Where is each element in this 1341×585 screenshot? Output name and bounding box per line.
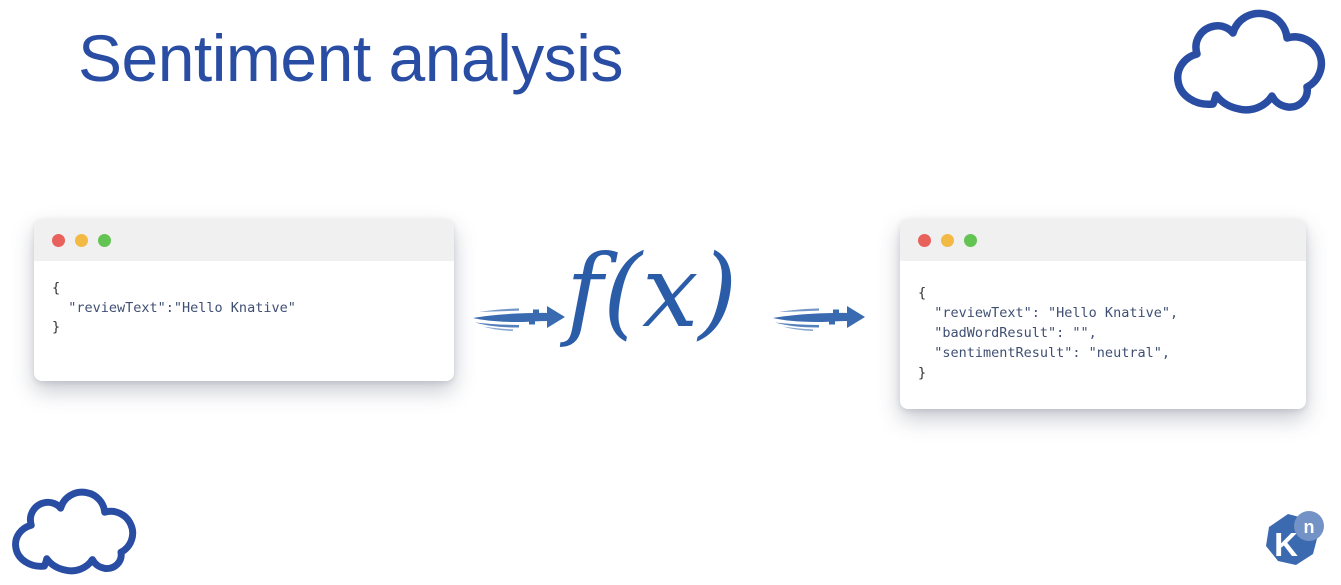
response-window-titlebar	[900, 219, 1306, 261]
code-line: }	[52, 318, 454, 338]
close-button-dot[interactable]	[918, 234, 931, 247]
close-button-dot[interactable]	[52, 234, 65, 247]
request-window-titlebar	[34, 219, 454, 261]
code-line: {	[52, 279, 454, 299]
knative-letter-k: K	[1274, 526, 1298, 563]
response-code-body: { "reviewText": "Hello Knative", "badWor…	[900, 261, 1306, 383]
cloud-icon-top-right	[1166, 8, 1334, 119]
response-payload-window: { "reviewText": "Hello Knative", "badWor…	[900, 219, 1306, 409]
minimize-button-dot[interactable]	[75, 234, 88, 247]
minimize-button-dot[interactable]	[941, 234, 954, 247]
code-line: {	[918, 283, 1306, 303]
code-line: "badWordResult": "",	[918, 323, 1306, 343]
request-payload-window: { "reviewText":"Hello Knative" }	[34, 219, 454, 381]
knative-logo: K n	[1258, 508, 1328, 583]
page-title: Sentiment analysis	[78, 24, 623, 93]
code-line: }	[918, 363, 1306, 383]
code-line: "reviewText":"Hello Knative"	[52, 299, 454, 319]
code-line: "reviewText": "Hello Knative",	[918, 303, 1306, 323]
knative-letter-n: n	[1304, 517, 1315, 537]
request-code-body: { "reviewText":"Hello Knative" }	[34, 261, 454, 338]
maximize-button-dot[interactable]	[964, 234, 977, 247]
arrow-function-to-response-icon	[773, 296, 865, 343]
code-line: "sentimentResult": "neutral",	[918, 343, 1306, 363]
maximize-button-dot[interactable]	[98, 234, 111, 247]
function-label: f(x)	[566, 242, 737, 342]
arrow-request-to-function-icon	[473, 296, 565, 343]
cloud-icon-bottom-left	[6, 486, 143, 581]
